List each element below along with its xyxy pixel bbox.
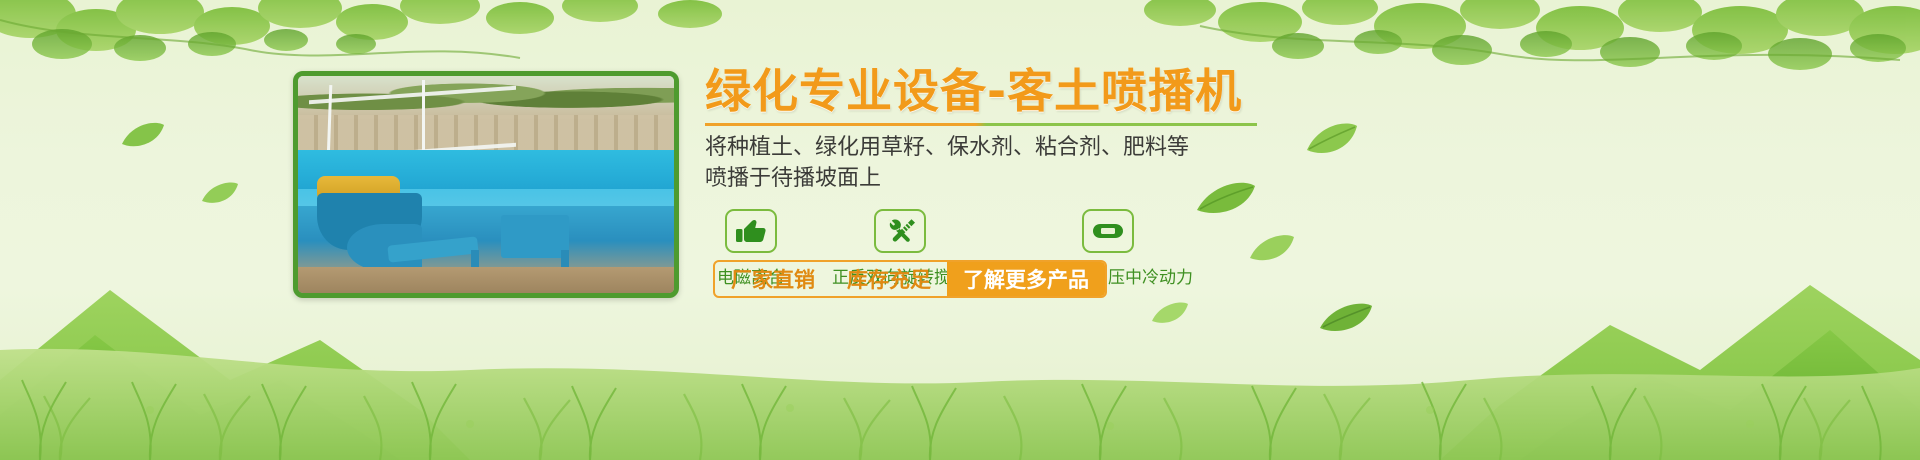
subtitle-line-2: 喷播于待播坡面上 [705,164,1405,193]
learn-more-button[interactable]: 了解更多产品 [947,262,1105,296]
promo-banner: 绿化专业设备-客土喷播机 将种植土、绿化用草籽、保水剂、粘合剂、肥料等 喷播于待… [0,0,1920,460]
product-photo-inner [298,76,674,293]
floating-leaf-icon [120,120,166,150]
floating-leaf-icon [200,180,240,206]
thumbs-up-icon [725,209,777,253]
cta-tag-direct-sales: 厂家直销 [715,262,831,296]
title-divider [705,123,1257,126]
page-title: 绿化专业设备-客土喷播机 [705,66,1405,117]
product-photo [293,71,679,298]
engine-power-icon [1082,209,1134,253]
subtitle-line-1: 将种植土、绿化用草籽、保水剂、粘合剂、肥料等 [705,133,1405,162]
cta-bar: 厂家直销 库存充足 了解更多产品 [713,260,1107,298]
cta-tag-stock: 库存充足 [831,262,947,296]
banner-content: 绿化专业设备-客土喷播机 将种植土、绿化用草籽、保水剂、粘合剂、肥料等 喷播于待… [705,66,1405,288]
tools-wrench-screwdriver-icon [874,209,926,253]
